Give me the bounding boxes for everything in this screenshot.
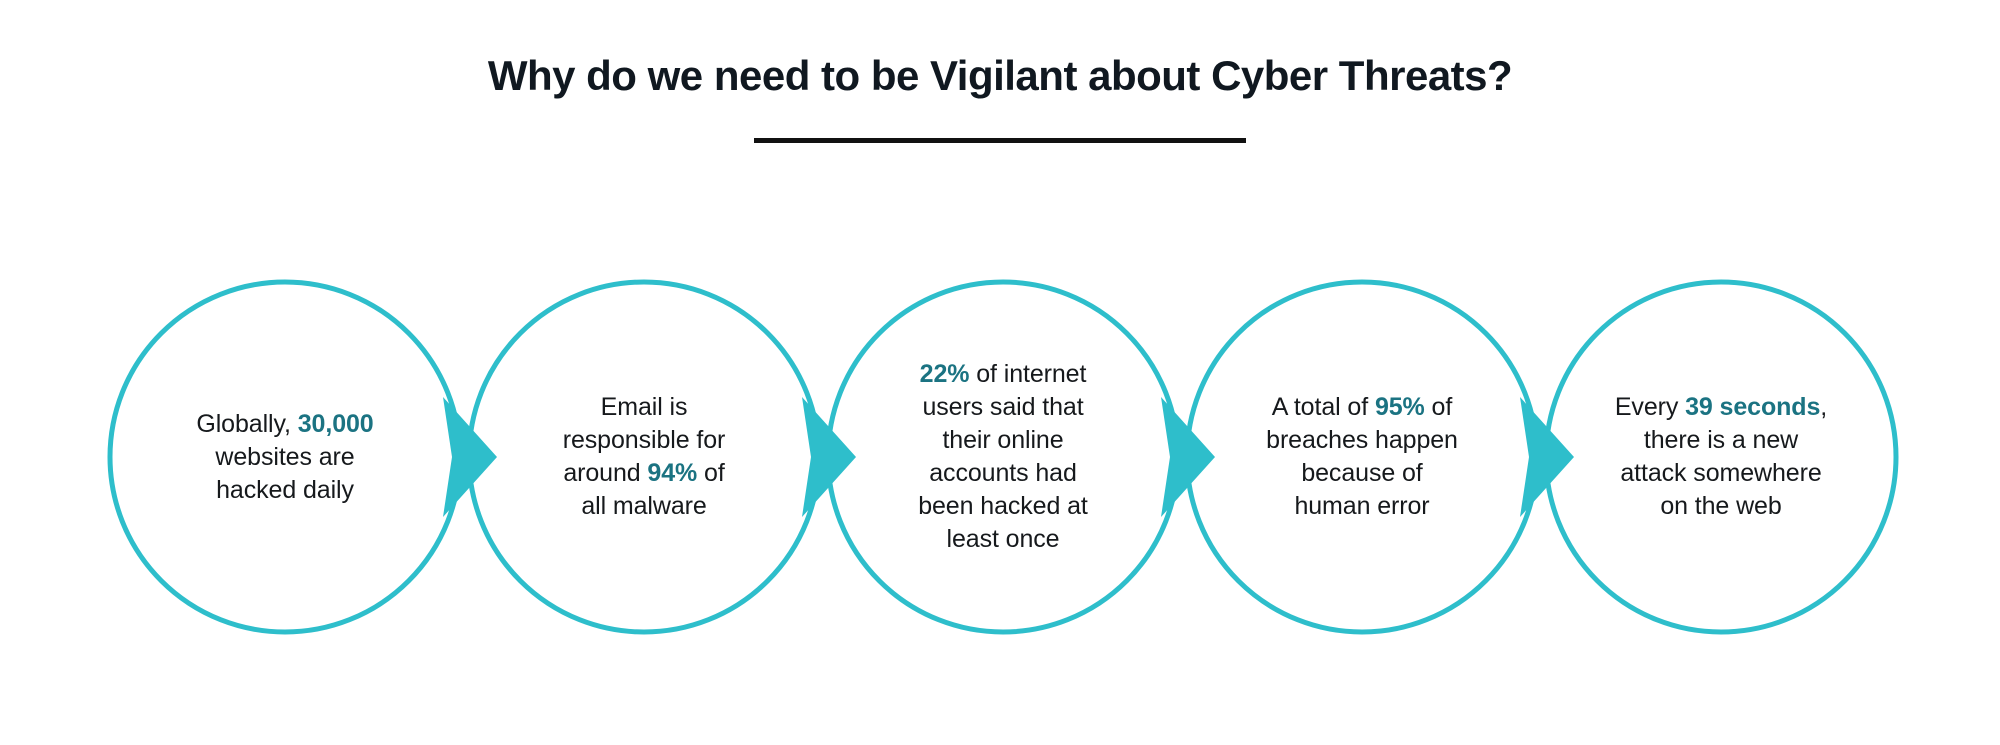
stat-circle-3-text: 22% of internetusers said thattheir onli… [881,358,1126,556]
stat-highlight: 94% [647,459,697,487]
stat-highlight: 95% [1375,393,1425,421]
title-block: Why do we need to be Vigilant about Cybe… [0,52,2000,143]
stat-highlight: 39 seconds [1685,393,1820,421]
statistics-circle-chain: Globally, 30,000websites arehacked daily… [0,278,2000,643]
stat-circle-1-text: Globally, 30,000websites arehacked daily [163,408,408,507]
stat-circle-3: 22% of internetusers said thattheir onli… [824,278,1182,636]
stat-highlight: 30,000 [298,410,374,438]
stat-circle-1: Globally, 30,000websites arehacked daily [106,278,464,636]
stat-circle-5-text: Every 39 seconds,there is a newattack so… [1599,391,1844,523]
stat-circle-5: Every 39 seconds,there is a newattack so… [1542,278,1900,636]
page-title: Why do we need to be Vigilant about Cybe… [0,52,2000,100]
infographic-canvas: Why do we need to be Vigilant about Cybe… [0,0,2000,745]
title-divider [754,138,1246,143]
stat-circle-2-text: Email isresponsible foraround 94% ofall … [522,391,767,523]
stat-circle-4-text: A total of 95% ofbreaches happenbecause … [1240,391,1485,523]
stat-circle-2: Email isresponsible foraround 94% ofall … [465,278,823,636]
stat-highlight: 22% [920,360,970,388]
stat-circle-4: A total of 95% ofbreaches happenbecause … [1183,278,1541,636]
